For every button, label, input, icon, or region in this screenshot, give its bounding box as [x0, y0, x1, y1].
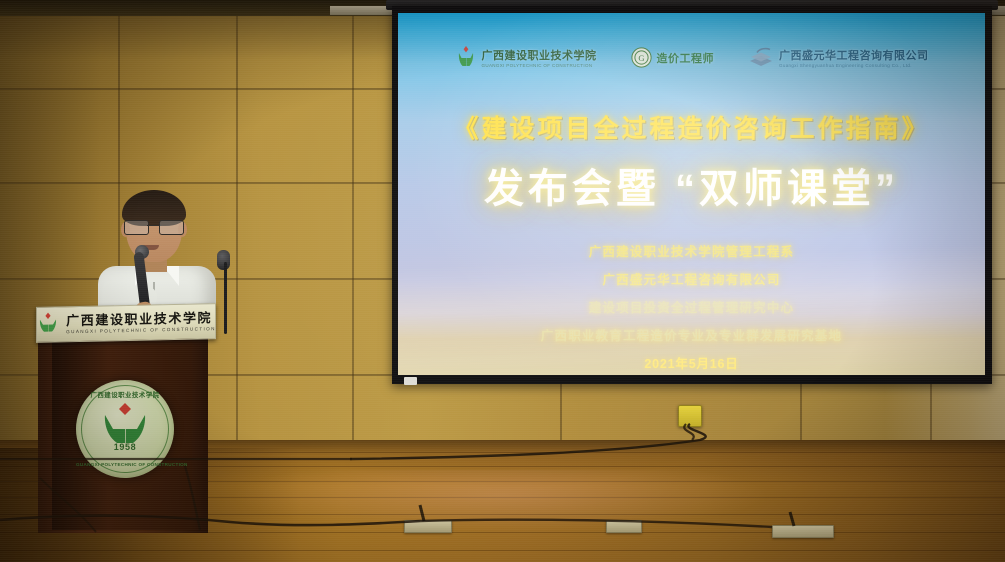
floor-cable-plate: [404, 520, 452, 533]
screen-bottom-tab: [404, 377, 417, 385]
podium-name-plate: 广西建设职业技术学院 GUANGXI POLYTECHNIC OF CONSTR…: [36, 303, 216, 343]
podium-sign-en: GUANGXI POLYTECHNIC OF CONSTRUCTION: [66, 327, 216, 335]
school-emblem-icon: [36, 311, 60, 339]
screen-surface: 广西建设职业技术学院 GUANGXI POLYTECHNIC OF CONSTR…: [398, 13, 985, 375]
wall-panel-seam: [236, 0, 238, 470]
wall-outlet-box: [678, 405, 702, 427]
podium-sign-cn: 广西建设职业技术学院: [66, 311, 216, 327]
eyeglasses-icon: [124, 220, 184, 233]
conference-photo-scene: 广西建设职业技术学院 GUANGXI POLYTECHNIC OF CONSTR…: [0, 0, 1005, 562]
wall-panel-seam: [352, 0, 354, 470]
projection-screen: 广西建设职业技术学院 GUANGXI POLYTECHNIC OF CONSTR…: [392, 6, 992, 384]
seal-year: 1958: [76, 442, 174, 452]
floor-light-reflection: [230, 470, 770, 532]
floor-cable-plate: [772, 525, 834, 538]
seal-arc-bottom-text: GUANGXI POLYTECHNIC OF CONSTRUCTION: [76, 462, 174, 467]
podium-school-seal: 广西建设职业技术学院 1958 GUANGXI POLYTECHNIC OF C…: [76, 380, 174, 478]
floor-cable-plate: [606, 520, 642, 533]
seal-arc-top-text: 广西建设职业技术学院: [76, 389, 174, 399]
